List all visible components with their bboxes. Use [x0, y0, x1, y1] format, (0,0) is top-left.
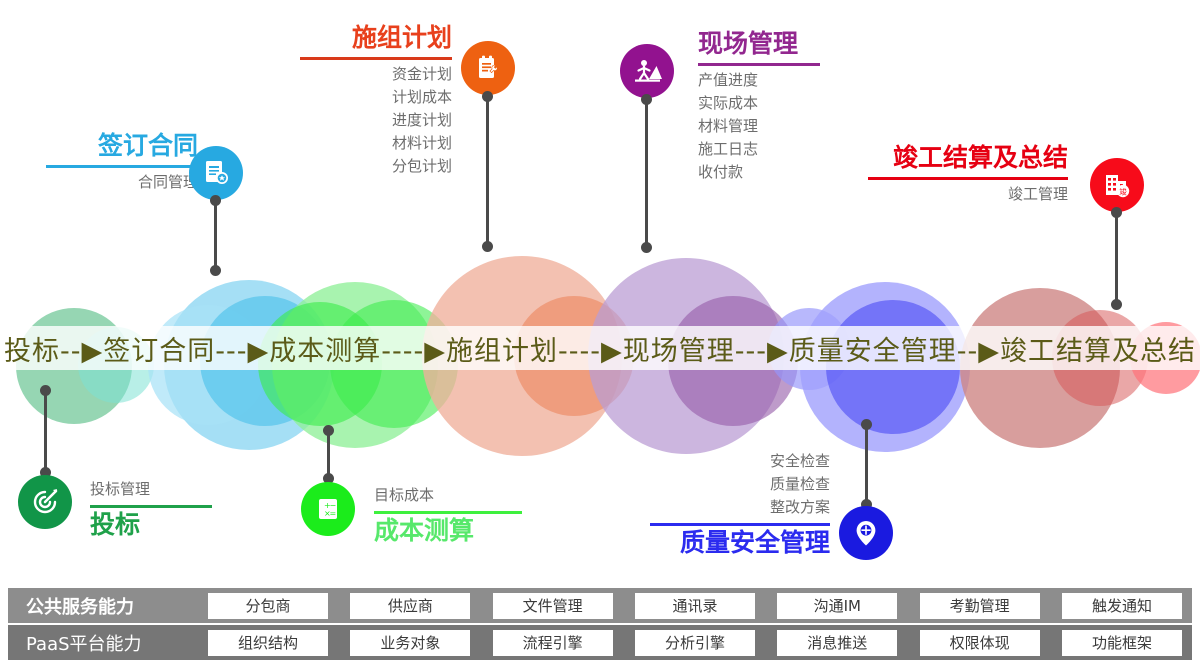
connector-dot-xianchang-top [641, 94, 652, 105]
capability-row-paas: PaaS平台能力 组织结构 业务对象 流程引擎 分析引擎 消息推送 权限体现 功… [8, 625, 1192, 660]
callout-shizu[interactable]: 施组计划 资金计划 计划成本 进度计划 材料计划 分包计划 [300, 24, 452, 177]
process-flow-text: 投标--▶签订合同---▶成本测算----▶施组计划----▶现场管理---▶质… [0, 329, 1200, 368]
capability-row-label: 公共服务能力 [12, 593, 208, 619]
capability-cell[interactable]: 分析引擎 [635, 630, 755, 656]
capability-cells: 组织结构 业务对象 流程引擎 分析引擎 消息推送 权限体现 功能框架 [208, 630, 1188, 656]
callout-item: 目标成本 [374, 484, 522, 507]
capability-cell[interactable]: 考勤管理 [920, 593, 1040, 619]
callout-item: 材料管理 [698, 115, 858, 138]
callout-jungong-items: 竣工管理 [868, 183, 1068, 206]
callout-item: 收付款 [698, 161, 858, 184]
callout-shizu-title: 施组计划 [300, 24, 452, 53]
callout-zhiliang[interactable]: 安全检查 质量检查 整改方案 质量安全管理 [650, 450, 830, 558]
callout-item: 分包计划 [300, 155, 452, 178]
callout-zhiliang-title: 质量安全管理 [650, 529, 830, 558]
capability-cell[interactable]: 组织结构 [208, 630, 328, 656]
callout-item: 计划成本 [300, 86, 452, 109]
connector-toubiao [44, 390, 47, 472]
capability-table: 公共服务能力 分包商 供应商 文件管理 通讯录 沟通IM 考勤管理 触发通知 P… [8, 588, 1192, 662]
callout-item: 资金计划 [300, 63, 452, 86]
capability-cell[interactable]: 业务对象 [350, 630, 470, 656]
callout-zhiliang-rule [650, 523, 830, 526]
callout-item: 竣工管理 [868, 183, 1068, 206]
callout-chengben[interactable]: 目标成本 成本测算 [374, 484, 522, 546]
connector-qianding [214, 200, 217, 270]
connector-dot-jungong-top [1111, 207, 1122, 218]
callout-item: 质量检查 [650, 473, 830, 496]
callout-qianding[interactable]: 签订合同 合同管理 [46, 132, 198, 194]
svg-text:竣: 竣 [1119, 186, 1127, 196]
clipboard-wrench-icon[interactable] [461, 41, 515, 95]
capability-cell[interactable]: 沟通IM [777, 593, 897, 619]
callout-qianding-items: 合同管理 [46, 171, 198, 194]
capability-row-public: 公共服务能力 分包商 供应商 文件管理 通讯录 沟通IM 考勤管理 触发通知 [8, 588, 1192, 623]
callout-chengben-rule [374, 511, 522, 514]
contract-seal-icon[interactable] [189, 146, 243, 200]
callout-item: 合同管理 [46, 171, 198, 194]
callout-item: 材料计划 [300, 132, 452, 155]
callout-item: 进度计划 [300, 109, 452, 132]
connector-dot-shizu-bottom [482, 241, 493, 252]
connector-dot-xianchang-bottom [641, 242, 652, 253]
callout-xianchang-items: 产值进度 实际成本 材料管理 施工日志 收付款 [698, 69, 858, 184]
svg-text:=: = [330, 509, 337, 518]
capability-cell[interactable]: 流程引擎 [493, 630, 613, 656]
target-dart-icon[interactable] [18, 475, 72, 529]
callout-toubiao-rule [90, 505, 212, 508]
capability-cell[interactable]: 通讯录 [635, 593, 755, 619]
capability-cell[interactable]: 功能框架 [1062, 630, 1182, 656]
callout-toubiao-items: 投标管理 [90, 478, 212, 501]
callout-xianchang-title: 现场管理 [698, 30, 858, 59]
calculator-icon[interactable]: + − × = [301, 482, 355, 536]
capability-cell[interactable]: 供应商 [350, 593, 470, 619]
callout-jungong[interactable]: 竣工结算及总结 竣工管理 [868, 144, 1068, 206]
callout-qianding-rule [46, 165, 198, 168]
callout-item: 实际成本 [698, 92, 858, 115]
connector-dot-jungong-bottom [1111, 299, 1122, 310]
callout-item: 安全检查 [650, 450, 830, 473]
building-complete-icon[interactable]: 竣 [1090, 158, 1144, 212]
callout-item: 产值进度 [698, 69, 858, 92]
callout-zhiliang-items: 安全检查 质量检查 整改方案 [650, 450, 830, 519]
callout-chengben-title: 成本测算 [374, 517, 522, 546]
callout-qianding-title: 签订合同 [46, 132, 198, 161]
capability-cell[interactable]: 消息推送 [777, 630, 897, 656]
capability-cell[interactable]: 权限体现 [920, 630, 1040, 656]
connector-dot-toubiao-top [40, 385, 51, 396]
capability-row-label: PaaS平台能力 [12, 630, 208, 656]
callout-xianchang[interactable]: 现场管理 产值进度 实际成本 材料管理 施工日志 收付款 [698, 30, 858, 183]
callout-item: 整改方案 [650, 496, 830, 519]
callout-toubiao-title: 投标 [90, 511, 212, 540]
callout-item: 投标管理 [90, 478, 212, 501]
capability-cell[interactable]: 文件管理 [493, 593, 613, 619]
safety-pin-icon[interactable] [839, 506, 893, 560]
connector-dot-shizu-top [482, 91, 493, 102]
process-flow-bar: 投标--▶签订合同---▶成本测算----▶施组计划----▶现场管理---▶质… [0, 326, 1200, 370]
connector-chengben [327, 430, 330, 478]
connector-shizu [486, 96, 489, 246]
callout-jungong-title: 竣工结算及总结 [868, 144, 1068, 173]
capability-cell[interactable]: 分包商 [208, 593, 328, 619]
callout-shizu-items: 资金计划 计划成本 进度计划 材料计划 分包计划 [300, 63, 452, 178]
callout-toubiao[interactable]: 投标管理 投标 [90, 478, 212, 540]
callout-chengben-items: 目标成本 [374, 484, 522, 507]
construction-worker-icon[interactable] [620, 44, 674, 98]
capability-cells: 分包商 供应商 文件管理 通讯录 沟通IM 考勤管理 触发通知 [208, 593, 1188, 619]
callout-shizu-rule [300, 57, 452, 60]
capability-cell[interactable]: 触发通知 [1062, 593, 1182, 619]
infographic-canvas: 投标--▶签订合同---▶成本测算----▶施组计划----▶现场管理---▶质… [0, 0, 1200, 666]
connector-dot-qianding-bottom [210, 265, 221, 276]
connector-xianchang [645, 99, 648, 247]
callout-xianchang-rule [698, 63, 820, 66]
connector-dot-zhiliang-top [861, 419, 872, 430]
callout-item: 施工日志 [698, 138, 858, 161]
connector-dot-qianding-top [210, 195, 221, 206]
callout-jungong-rule [868, 177, 1068, 180]
connector-zhiliang [865, 424, 868, 504]
connector-dot-chengben-top [323, 425, 334, 436]
connector-jungong [1115, 212, 1118, 304]
